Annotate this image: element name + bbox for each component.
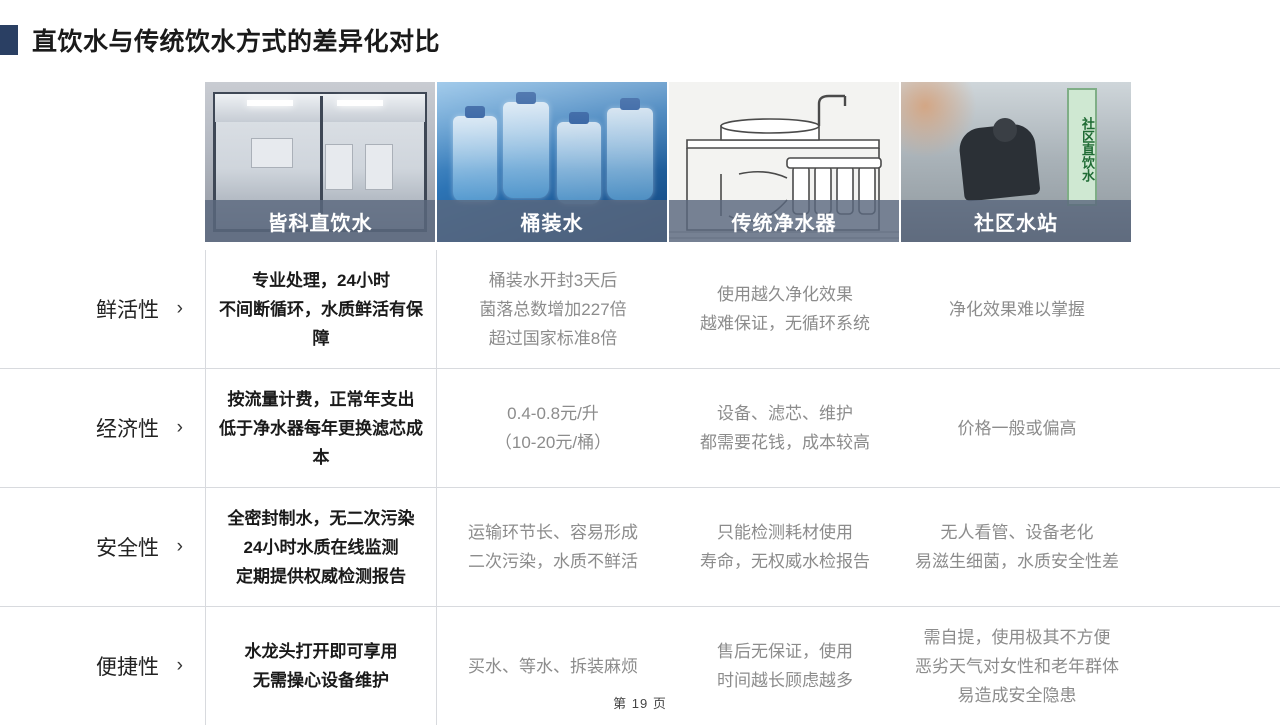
chevron-right-icon: ›	[177, 536, 183, 558]
chevron-right-icon: ›	[177, 417, 183, 439]
table-row: 鲜活性 › 专业处理，24小时 不间断循环，水质鲜活有保障 桶装水开封3天后 菌…	[0, 250, 1280, 369]
column-card-0: 皆科直饮水	[205, 82, 435, 242]
chevron-right-icon: ›	[177, 655, 183, 677]
row-label-text-1: 经济性	[96, 413, 159, 443]
table-row: 安全性 › 全密封制水，无二次污染 24小时水质在线监测 定期提供权威检测报告 …	[0, 488, 1280, 607]
table-row: 经济性 › 按流量计费，正常年支出 低于净水器每年更换滤芯成本 0.4-0.8元…	[0, 369, 1280, 488]
station-sign: 社区直饮水	[1067, 88, 1097, 206]
page-title: 直饮水与传统饮水方式的差异化对比	[0, 22, 440, 58]
row-label-2: 安全性 ›	[0, 488, 205, 606]
cell-0-1: 桶装水开封3天后 菌落总数增加227倍 超过国家标准8倍	[437, 250, 669, 368]
cell-2-2: 只能检测耗材使用 寿命，无权威水检报告	[669, 488, 901, 606]
comparison-table: 鲜活性 › 专业处理，24小时 不间断循环，水质鲜活有保障 桶装水开封3天后 菌…	[0, 250, 1280, 725]
column-card-2: 传统净水器	[669, 82, 899, 242]
cell-2-3: 无人看管、设备老化 易滋生细菌，水质安全性差	[901, 488, 1133, 606]
cell-1-2: 设备、滤芯、维护 都需要花钱，成本较高	[669, 369, 901, 487]
cell-0-3: 净化效果难以掌握	[901, 250, 1133, 368]
cell-2-1: 运输环节长、容易形成 二次污染，水质不鲜活	[437, 488, 669, 606]
column-card-caption-1: 桶装水	[437, 200, 667, 242]
page-title-text: 直饮水与传统饮水方式的差异化对比	[32, 22, 440, 58]
cell-0-2: 使用越久净化效果 越难保证，无循环系统	[669, 250, 901, 368]
row-label-text-3: 便捷性	[96, 651, 159, 681]
row-label-text-2: 安全性	[96, 532, 159, 562]
row-label-1: 经济性 ›	[0, 369, 205, 487]
row-label-0: 鲜活性 ›	[0, 250, 205, 368]
column-header-cards: 皆科直饮水 桶装水	[205, 82, 1131, 242]
cell-1-0: 按流量计费，正常年支出 低于净水器每年更换滤芯成本	[205, 369, 437, 487]
column-card-caption-0: 皆科直饮水	[205, 200, 435, 242]
row-label-text-0: 鲜活性	[96, 294, 159, 324]
column-card-1: 桶装水	[437, 82, 667, 242]
cell-2-0: 全密封制水，无二次污染 24小时水质在线监测 定期提供权威检测报告	[205, 488, 437, 606]
column-card-3: 社区直饮水 社区水站	[901, 82, 1131, 242]
column-card-caption-2: 传统净水器	[669, 200, 899, 242]
chevron-right-icon: ›	[177, 298, 183, 320]
cell-0-0: 专业处理，24小时 不间断循环，水质鲜活有保障	[205, 250, 437, 368]
cell-1-1: 0.4-0.8元/升 （10-20元/桶）	[437, 369, 669, 487]
page-number: 第 19 页	[0, 693, 1280, 712]
title-accent-bar	[0, 25, 18, 55]
cell-1-3: 价格一般或偏高	[901, 369, 1133, 487]
column-card-caption-3: 社区水站	[901, 200, 1131, 242]
